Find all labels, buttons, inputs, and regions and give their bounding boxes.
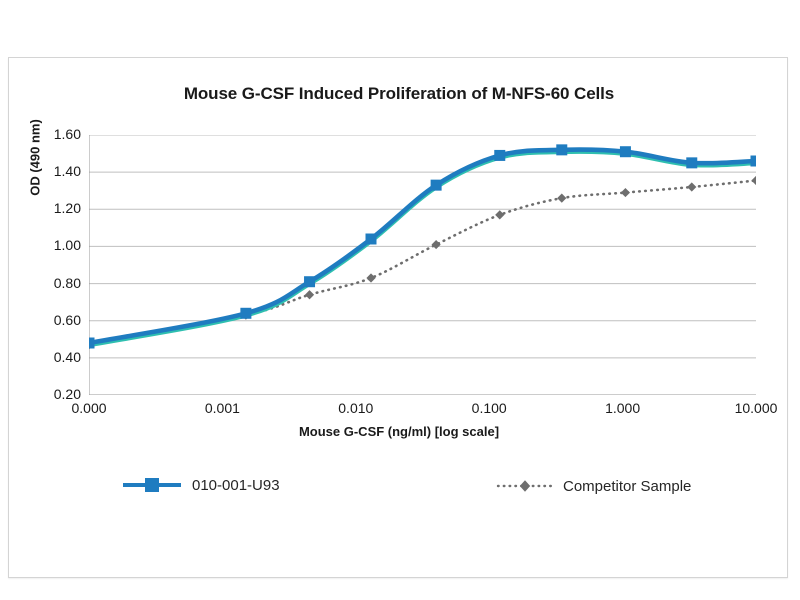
legend-dotted-diamond-icon xyxy=(496,477,554,495)
primary-data-point xyxy=(240,308,251,319)
primary-data-point xyxy=(366,234,377,245)
competitor-data-point xyxy=(557,194,566,203)
x-tick-label: 0.100 xyxy=(472,400,507,416)
legend-line-square-icon xyxy=(121,476,183,494)
y-tick-label: 0.80 xyxy=(35,275,81,291)
x-tick-label: 1.000 xyxy=(605,400,640,416)
x-tick-label: 0.001 xyxy=(205,400,240,416)
y-tick-label: 0.40 xyxy=(35,349,81,365)
primary-data-point xyxy=(751,156,757,167)
x-tick-label: 0.010 xyxy=(338,400,373,416)
chart-card: Mouse G-CSF Induced Proliferation of M-N… xyxy=(8,57,788,578)
x-tick-label: 10.000 xyxy=(735,400,778,416)
y-tick-label: 0.60 xyxy=(35,312,81,328)
primary-data-point xyxy=(686,157,697,168)
primary-data-point xyxy=(494,150,505,161)
competitor-data-point xyxy=(305,290,314,299)
chart-title: Mouse G-CSF Induced Proliferation of M-N… xyxy=(9,84,789,104)
competitor-data-point xyxy=(432,240,441,249)
plot-area xyxy=(89,135,756,395)
legend-label-primary: 010-001-U93 xyxy=(192,477,280,494)
primary-data-point xyxy=(89,338,95,349)
legend-item-competitor[interactable]: Competitor Sample xyxy=(496,474,691,498)
competitor-data-point xyxy=(751,176,756,185)
competitor-data-point xyxy=(621,188,630,197)
y-tick-label: 1.20 xyxy=(35,200,81,216)
chart-legend: 010-001-U93 Competitor Sample xyxy=(9,473,789,513)
y-axis-tick-labels: 1.601.401.201.000.800.600.400.20 xyxy=(25,135,81,395)
plot-svg xyxy=(89,135,756,395)
chart-figure: Mouse G-CSF Induced Proliferation of M-N… xyxy=(0,0,800,600)
primary-line-glow xyxy=(89,152,756,345)
y-tick-label: 1.60 xyxy=(35,126,81,142)
y-tick-label: 1.40 xyxy=(35,163,81,179)
competitor-line xyxy=(89,181,756,345)
y-tick-label: 1.00 xyxy=(35,237,81,253)
primary-data-point xyxy=(620,146,631,157)
x-axis-title: Mouse G-CSF (ng/ml) [log scale] xyxy=(9,424,789,439)
primary-data-point xyxy=(304,276,315,287)
x-axis-tick-labels: 0.0000.0010.0100.1001.00010.000 xyxy=(89,400,756,422)
primary-data-point xyxy=(431,180,442,191)
x-tick-label: 0.000 xyxy=(71,400,106,416)
competitor-data-point xyxy=(495,210,504,219)
legend-item-primary[interactable]: 010-001-U93 xyxy=(121,473,280,497)
gridlines xyxy=(89,135,756,395)
primary-data-point xyxy=(556,144,567,155)
legend-label-competitor: Competitor Sample xyxy=(563,478,691,495)
axis-lines xyxy=(89,135,756,395)
competitor-data-point xyxy=(687,182,696,191)
competitor-data-point xyxy=(366,273,375,282)
